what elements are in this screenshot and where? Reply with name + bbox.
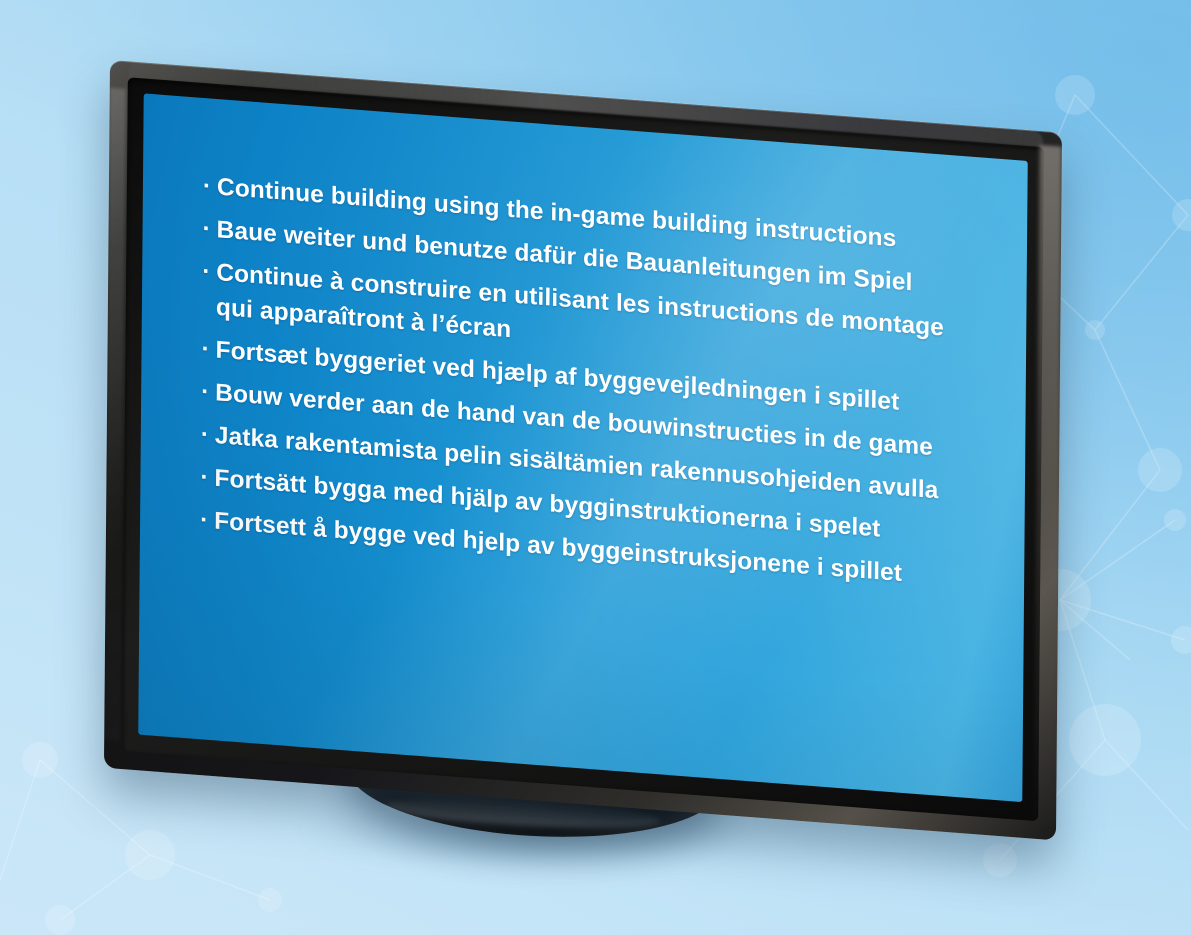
- tv-panel: ·Continue building using the in-game bui…: [104, 60, 1062, 840]
- bullet-icon-nl: ·: [201, 375, 215, 410]
- instruction-list: ·Continue building using the in-game bui…: [200, 170, 999, 608]
- bullet-icon-en: ·: [203, 170, 217, 205]
- tv-screen: ·Continue building using the in-game bui…: [138, 93, 1027, 802]
- scene-canvas: ·Continue building using the in-game bui…: [0, 0, 1191, 935]
- bullet-icon-fi: ·: [201, 418, 215, 453]
- bullet-icon-fr: ·: [202, 255, 216, 290]
- bullet-icon-da: ·: [201, 333, 215, 368]
- bullet-icon-de: ·: [202, 212, 216, 247]
- television: ·Continue building using the in-game bui…: [0, 0, 1191, 935]
- bullet-icon-no: ·: [200, 504, 214, 539]
- bezel-right-highlight: [1034, 145, 1062, 826]
- bullet-icon-sv: ·: [200, 461, 214, 496]
